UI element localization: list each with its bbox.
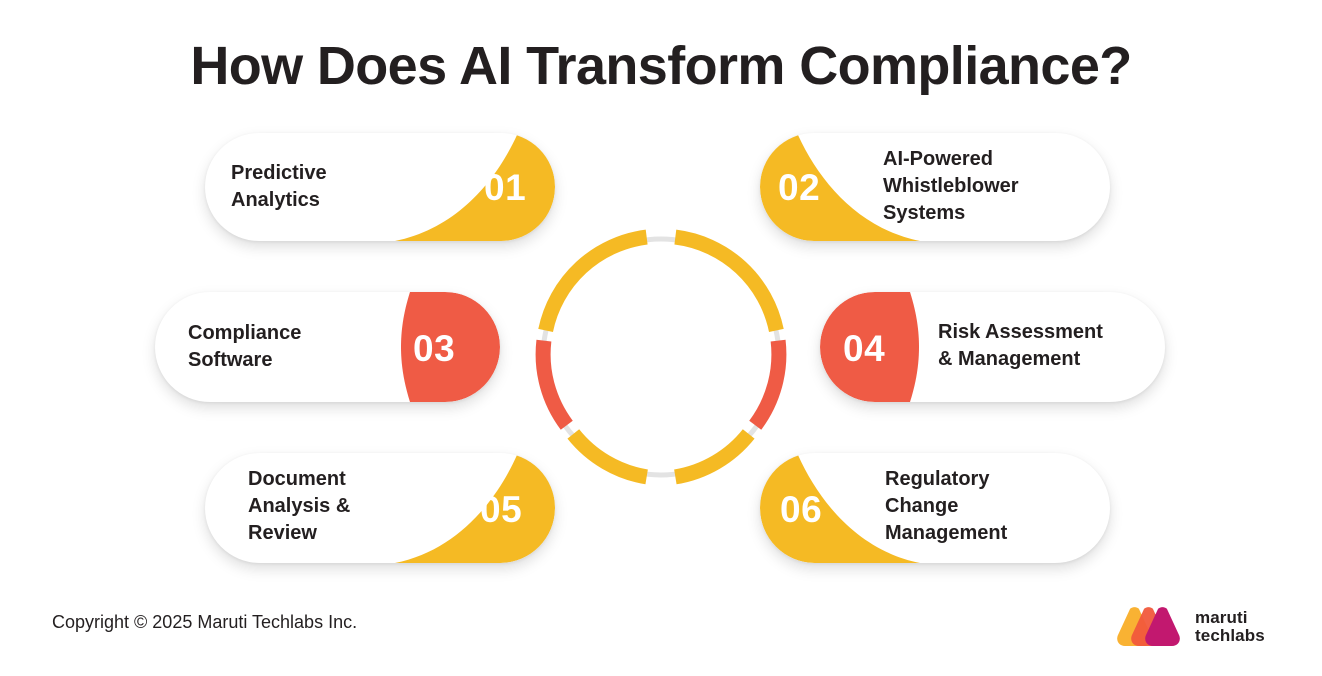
copyright-text: Copyright © 2025 Maruti Techlabs Inc. [52,610,357,634]
ring-segment-02 [675,237,776,330]
card-01-number: 01 [484,167,526,209]
ring-segment-04 [755,341,779,426]
page-title: How Does AI Transform Compliance? [0,34,1322,98]
card-03-label: Compliance Software [188,320,388,374]
card-02[interactable]: AI-Powered Whistleblower Systems 02 [760,133,1110,241]
card-05[interactable]: Document Analysis & Review 05 [205,453,555,563]
card-04-number: 04 [843,328,885,370]
ring-segment-06 [675,434,748,477]
card-03[interactable]: Compliance Software 03 [155,292,500,402]
card-02-label: AI-Powered Whistleblower Systems [883,146,1098,227]
card-05-label: Document Analysis & Review [248,466,448,547]
ring-segment-05 [573,434,646,477]
ring-segment-03 [543,341,567,426]
card-06[interactable]: Regulatory Change Management 06 [760,453,1110,563]
card-05-number: 05 [480,489,522,531]
logo-wordmark: maruti techlabs [1195,609,1265,645]
ring-segment-01 [546,237,647,330]
card-01-label: Predictive Analytics [231,160,421,214]
logo-mark-icon [1113,606,1185,648]
card-01[interactable]: Predictive Analytics 01 [205,133,555,241]
maruti-techlabs-logo: maruti techlabs [1113,603,1283,651]
infographic-canvas: How Does AI Transform Compliance? [0,0,1322,676]
card-06-label: Regulatory Change Management [885,466,1100,547]
card-03-number: 03 [413,328,455,370]
card-04-label: Risk Assessment & Management [938,319,1158,373]
card-04[interactable]: Risk Assessment & Management 04 [820,292,1165,402]
card-02-number: 02 [778,167,820,209]
card-06-number: 06 [780,489,822,531]
